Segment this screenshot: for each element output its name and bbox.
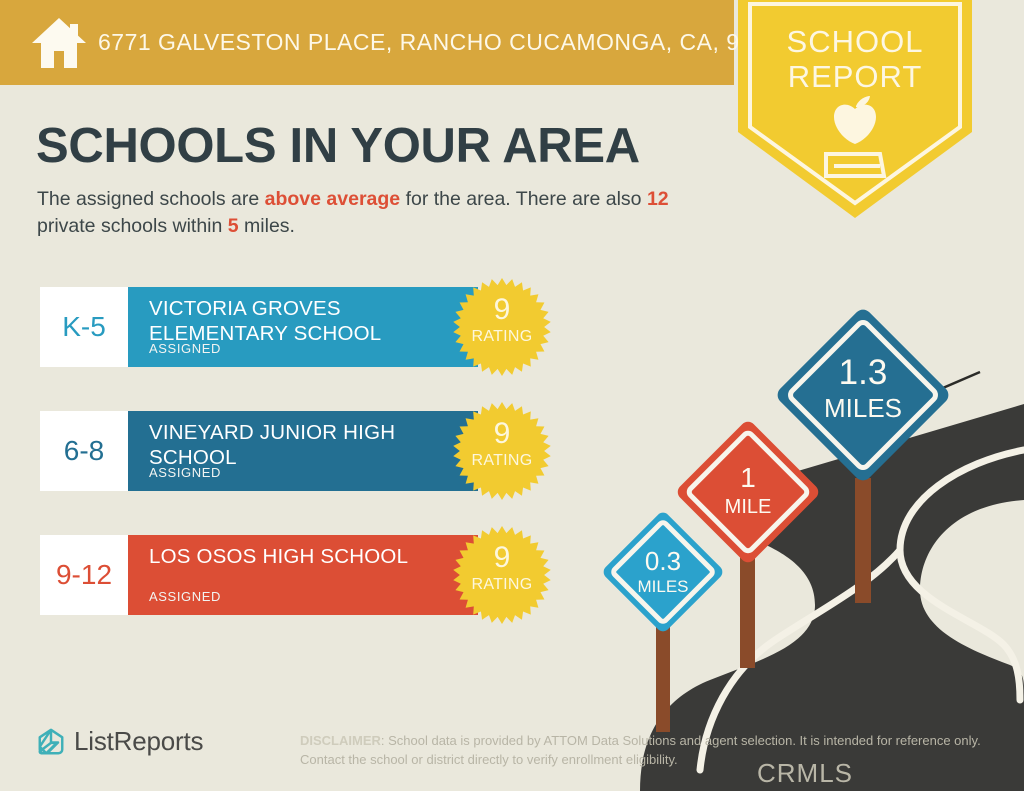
disclaimer: DISCLAIMER: School data is provided by A… bbox=[300, 731, 990, 769]
subtitle-highlight-private-count: 12 bbox=[647, 188, 669, 210]
svg-text:1.3: 1.3 bbox=[839, 353, 888, 392]
subtitle-part-1: The assigned schools are bbox=[37, 188, 265, 210]
school-info-bar: VICTORIA GROVES ELEMENTARY SCHOOL ASSIGN… bbox=[128, 287, 478, 367]
badge-title-line1: SCHOOL bbox=[730, 24, 980, 59]
grade-range-label: K-5 bbox=[62, 311, 106, 343]
rating-value: 9 bbox=[453, 295, 551, 325]
page-title: SCHOOLS IN YOUR AREA bbox=[36, 118, 640, 174]
rating-value: 9 bbox=[453, 419, 551, 449]
school-info-bar: VINEYARD JUNIOR HIGH SCHOOL ASSIGNED bbox=[128, 411, 478, 491]
grade-range-box: K-5 bbox=[40, 287, 128, 367]
rating-starburst-badge: 9 RATING bbox=[453, 526, 551, 624]
school-name: VINEYARD JUNIOR HIGH SCHOOL bbox=[149, 420, 479, 470]
school-status: ASSIGNED bbox=[149, 589, 221, 604]
subtitle-highlight-above-average: above average bbox=[265, 188, 401, 210]
school-name: LOS OSOS HIGH SCHOOL bbox=[149, 544, 479, 569]
svg-text:0.3: 0.3 bbox=[645, 546, 681, 576]
grade-range-box: 6-8 bbox=[40, 411, 128, 491]
school-info-bar: LOS OSOS HIGH SCHOOL ASSIGNED bbox=[128, 535, 478, 615]
svg-text:MILES: MILES bbox=[637, 577, 688, 596]
subtitle-part-2: for the area. There are also bbox=[400, 188, 647, 210]
grade-range-box: 9-12 bbox=[40, 535, 128, 615]
school-row[interactable]: 6-8 VINEYARD JUNIOR HIGH SCHOOL ASSIGNED… bbox=[40, 411, 560, 491]
disclaimer-label: DISCLAIMER bbox=[300, 733, 381, 748]
school-status: ASSIGNED bbox=[149, 465, 221, 480]
rating-label: RATING bbox=[453, 328, 551, 346]
school-row[interactable]: 9-12 LOS OSOS HIGH SCHOOL ASSIGNED 9 RAT… bbox=[40, 535, 560, 615]
badge-title: SCHOOL REPORT bbox=[730, 24, 980, 94]
subtitle-part-3: private schools within bbox=[37, 215, 228, 237]
rating-value: 9 bbox=[453, 543, 551, 573]
grade-range-label: 9-12 bbox=[56, 559, 112, 591]
school-list: K-5 VICTORIA GROVES ELEMENTARY SCHOOL AS… bbox=[40, 287, 560, 659]
rating-label: RATING bbox=[453, 576, 551, 594]
school-name: VICTORIA GROVES ELEMENTARY SCHOOL bbox=[149, 296, 479, 346]
property-address: 6771 GALVESTON PLACE, RANCHO CUCAMONGA, … bbox=[98, 29, 793, 56]
page-subtitle: The assigned schools are above average f… bbox=[37, 186, 717, 240]
address-header-bar: 6771 GALVESTON PLACE, RANCHO CUCAMONGA, … bbox=[0, 0, 734, 85]
school-row[interactable]: K-5 VICTORIA GROVES ELEMENTARY SCHOOL AS… bbox=[40, 287, 560, 367]
listreports-logo[interactable]: ListReports bbox=[36, 726, 203, 757]
svg-text:1: 1 bbox=[740, 462, 756, 493]
badge-title-line2: REPORT bbox=[730, 59, 980, 94]
listreports-logo-text: ListReports bbox=[74, 726, 203, 757]
disclaimer-text: : School data is provided by ATTOM Data … bbox=[300, 733, 981, 767]
school-report-badge: SCHOOL REPORT bbox=[730, 0, 980, 222]
rating-starburst-badge: 9 RATING bbox=[453, 278, 551, 376]
svg-text:MILE: MILE bbox=[725, 496, 772, 518]
grade-range-label: 6-8 bbox=[64, 435, 104, 467]
svg-text:MILES: MILES bbox=[824, 393, 902, 423]
listreports-house-pin-icon bbox=[36, 727, 66, 757]
school-status: ASSIGNED bbox=[149, 341, 221, 356]
rating-label: RATING bbox=[453, 452, 551, 470]
road-signs-illustration: 1.3 MILES 1 MILE 0.3 bbox=[600, 300, 1024, 791]
rating-starburst-badge: 9 RATING bbox=[453, 402, 551, 500]
road-signs-svg: 1.3 MILES 1 MILE 0.3 bbox=[600, 300, 1024, 791]
school-report-infographic: 6771 GALVESTON PLACE, RANCHO CUCAMONGA, … bbox=[0, 0, 1024, 791]
crmls-watermark: CRMLS bbox=[757, 758, 853, 789]
subtitle-part-4: miles. bbox=[239, 215, 295, 237]
home-icon bbox=[30, 15, 88, 71]
subtitle-highlight-radius: 5 bbox=[228, 215, 239, 237]
